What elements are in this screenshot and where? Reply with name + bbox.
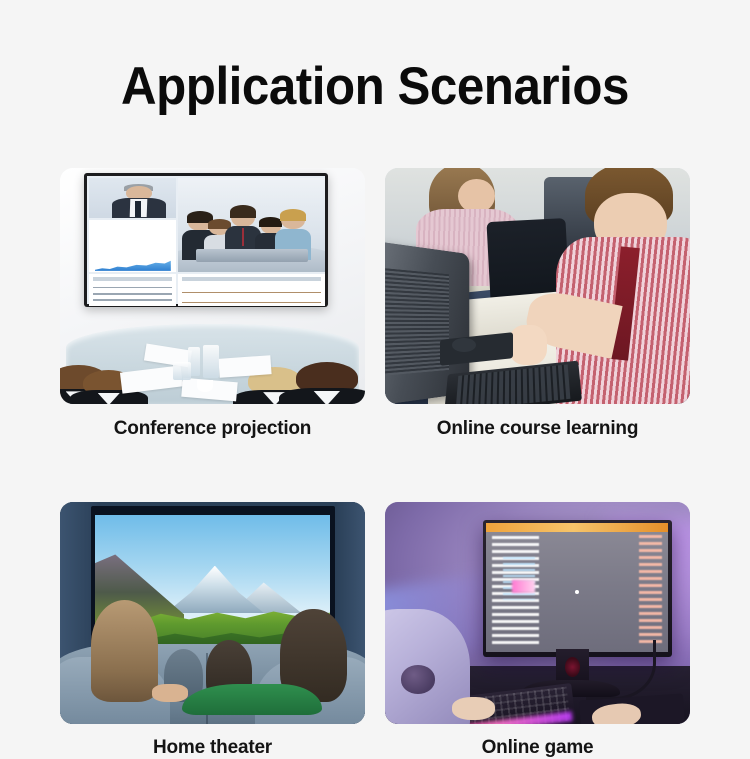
game-crosshair bbox=[575, 590, 579, 594]
resting-arm bbox=[152, 684, 189, 702]
slide-list-panel bbox=[89, 274, 176, 306]
slide-bar-chart bbox=[89, 220, 176, 272]
scenario-card-online-game[interactable]: Online game bbox=[385, 502, 690, 759]
scenario-caption-online-course-learning: Online course learning bbox=[385, 418, 690, 440]
green-sweater-arm bbox=[182, 684, 322, 715]
attendee bbox=[301, 367, 353, 404]
conference-projection-image bbox=[60, 168, 365, 404]
wall-display-screen bbox=[87, 176, 325, 305]
scenario-card-online-course-learning[interactable]: Online course learning bbox=[385, 168, 690, 440]
gamer-left-hand bbox=[452, 697, 495, 719]
coffee-cup bbox=[197, 380, 212, 392]
document-sheet bbox=[218, 355, 271, 377]
girl-face bbox=[458, 179, 495, 213]
viewer-adult-left bbox=[91, 600, 158, 702]
game-hud-right-text bbox=[639, 535, 663, 647]
game-hud-left-text-secondary bbox=[503, 557, 536, 601]
wall-display-bezel bbox=[84, 173, 328, 308]
student-boy bbox=[562, 168, 690, 404]
group-laptops bbox=[196, 249, 308, 262]
bar-chart-series-red bbox=[95, 248, 171, 260]
video-call-group-tile bbox=[178, 178, 325, 272]
scenario-grid: Conference projection bbox=[60, 168, 690, 759]
monitor-screen bbox=[486, 523, 668, 652]
slide-text-panel bbox=[178, 274, 325, 306]
scenario-caption-online-game: Online game bbox=[385, 737, 690, 759]
boy-hand bbox=[509, 325, 547, 364]
online-game-image bbox=[385, 502, 690, 724]
home-theater-image bbox=[60, 502, 365, 724]
scenario-card-conference-projection[interactable]: Conference projection bbox=[60, 168, 365, 440]
online-course-learning-image bbox=[385, 168, 690, 404]
scenario-caption-conference-projection: Conference projection bbox=[60, 418, 365, 440]
area-chart-dark bbox=[95, 259, 171, 271]
scenario-caption-home-theater: Home theater bbox=[60, 737, 365, 759]
portrait-tie bbox=[135, 201, 141, 217]
game-hud-highlight bbox=[512, 580, 536, 593]
video-call-portrait-tile bbox=[89, 178, 176, 218]
keyboard-keys bbox=[455, 365, 571, 404]
scenario-card-home-theater[interactable]: Home theater bbox=[60, 502, 365, 759]
conference-microphone bbox=[173, 362, 191, 381]
hoodie-sleeve-detail bbox=[401, 665, 436, 693]
application-scenarios-page: Application Scenarios bbox=[0, 0, 750, 750]
gaming-monitor bbox=[483, 520, 672, 658]
water-glass bbox=[203, 345, 218, 378]
page-title: Application Scenarios bbox=[26, 56, 724, 117]
bar-chart-series-blue bbox=[95, 222, 171, 245]
game-hud-topbar bbox=[486, 523, 668, 532]
